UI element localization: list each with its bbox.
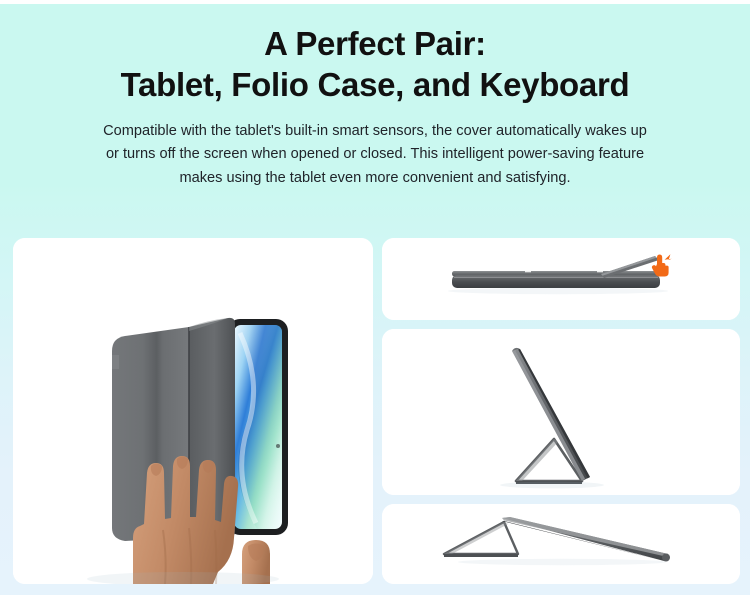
main-product-image-card[interactable] (13, 238, 373, 584)
subtitle-line-2: or turns off the screen when opened or c… (25, 143, 725, 167)
closed-cover-lifting-illustration (382, 238, 740, 320)
tablet-screen (234, 325, 282, 529)
header-block: A Perfect Pair: Tablet, Folio Case, and … (0, 24, 750, 191)
page-subtitle: Compatible with the tablet's built-in sm… (25, 120, 725, 191)
title-line-1: A Perfect Pair: (264, 25, 486, 62)
panel-shadow (500, 482, 604, 489)
product-image-gallery (13, 238, 740, 584)
panel-closed-cover-lifting[interactable] (382, 238, 740, 320)
subtitle-line-3: makes using the tablet even more conveni… (25, 167, 725, 191)
panel-shadow (458, 559, 666, 565)
hand-opening-folio-cover-illustration (13, 238, 373, 584)
secondary-image-column (382, 238, 740, 584)
subtitle-line-1: Compatible with the tablet's built-in sm… (25, 120, 725, 144)
page-title: A Perfect Pair: Tablet, Folio Case, and … (18, 24, 732, 106)
upright-stand-mode-illustration (382, 329, 740, 495)
title-line-2: Tablet, Folio Case, and Keyboard (18, 65, 732, 106)
promo-poster: A Perfect Pair: Tablet, Folio Case, and … (0, 0, 750, 601)
cover-notch (112, 355, 119, 369)
panel-shadow (448, 288, 668, 294)
panel-low-angle-typing-mode[interactable] (382, 504, 740, 584)
triangle-base-edge (444, 554, 518, 557)
tablet-end-cap (662, 554, 670, 562)
low-angle-typing-mode-illustration (382, 504, 740, 584)
camera-dot (276, 444, 280, 448)
panel-upright-stand-mode[interactable] (382, 329, 740, 495)
